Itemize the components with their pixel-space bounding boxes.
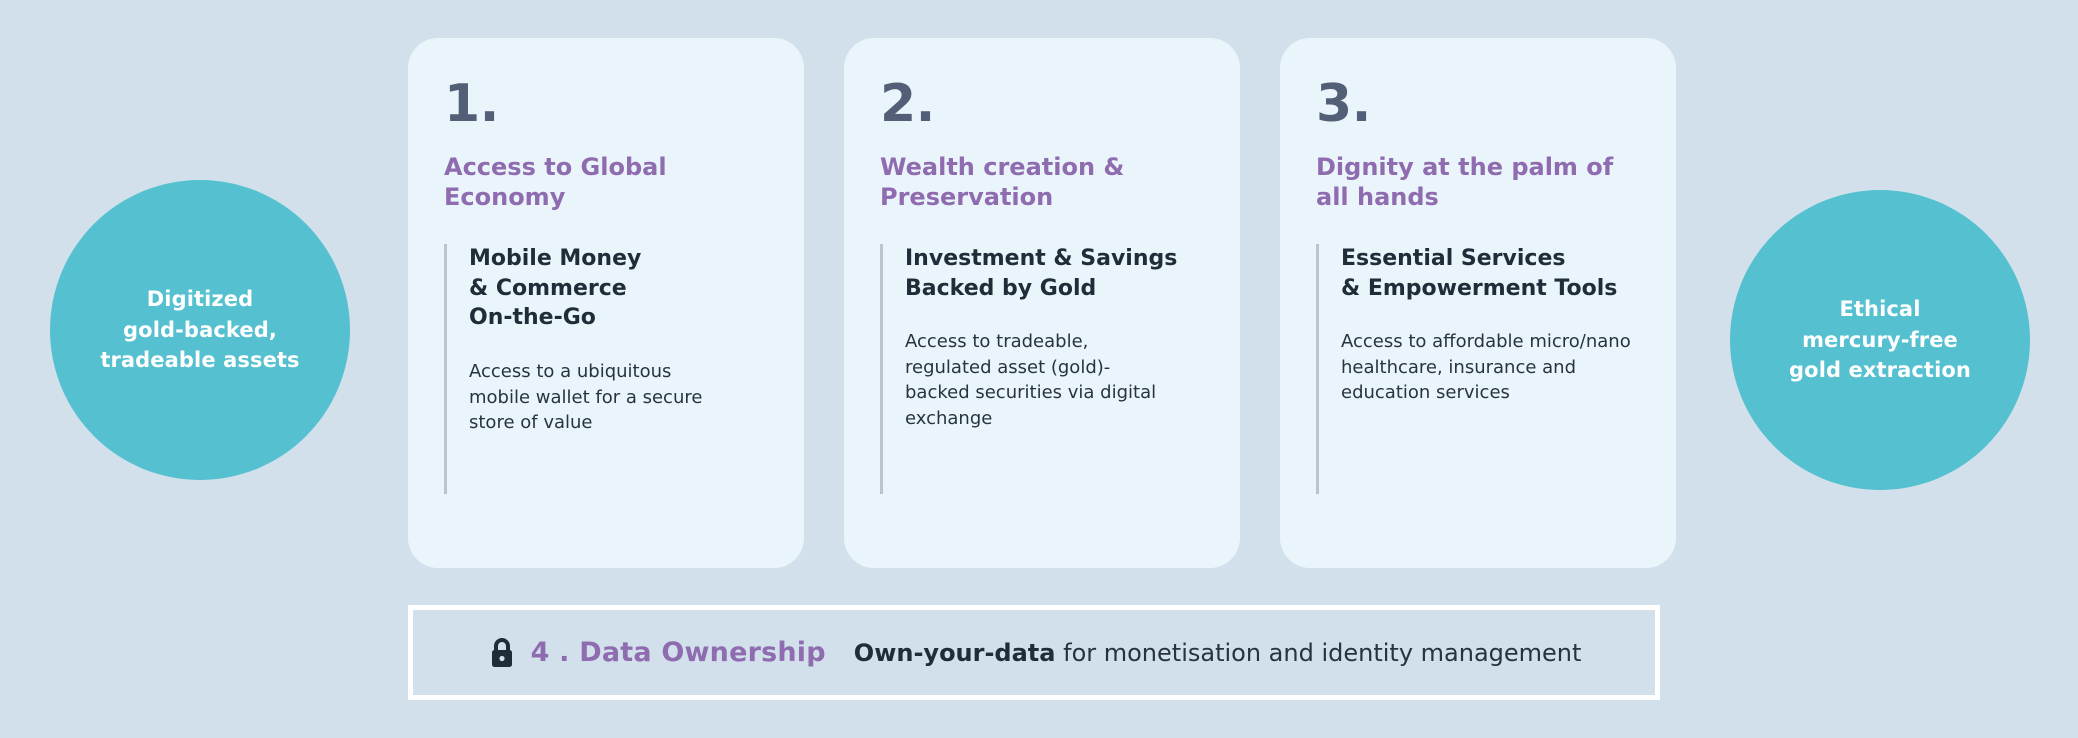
card-number: 3. <box>1316 78 1640 130</box>
card-body-description: Access to tradeable, regulated asset (go… <box>905 329 1204 431</box>
card-body: Investment & Savings Backed by Gold Acce… <box>880 244 1204 494</box>
data-ownership-description-rest: for monetisation and identity management <box>1055 639 1581 667</box>
data-ownership-step-label: 4 . Data Ownership <box>531 637 826 668</box>
card-body-description: Access to a ubiquitous mobile wallet for… <box>469 359 768 436</box>
card-number: 1. <box>444 78 768 130</box>
card-body: Essential Services & Empowerment Tools A… <box>1316 244 1640 494</box>
card-body-title: Mobile Money & Commerce On-the-Go <box>469 244 768 333</box>
card-body-description: Access to affordable micro/nano healthca… <box>1341 329 1640 406</box>
cards-row: 1. Access to Global Economy Mobile Money… <box>408 38 1676 568</box>
card-body: Mobile Money & Commerce On-the-Go Access… <box>444 244 768 494</box>
card-body-title: Essential Services & Empowerment Tools <box>1341 244 1640 303</box>
data-ownership-bar[interactable]: 4 . Data Ownership Own-your-data for mon… <box>408 605 1660 700</box>
card-heading: Dignity at the palm of all hands <box>1316 152 1640 212</box>
card-body-title: Investment & Savings Backed by Gold <box>905 244 1204 303</box>
card-wealth-creation-preservation[interactable]: 2. Wealth creation & Preservation Invest… <box>844 38 1240 568</box>
card-dignity-at-palm-of-all-hands[interactable]: 3. Dignity at the palm of all hands Esse… <box>1280 38 1676 568</box>
data-ownership-description: Own-your-data for monetisation and ident… <box>854 639 1582 667</box>
circle-left-label: Digitized gold-backed, tradeable assets <box>74 284 325 375</box>
card-heading: Access to Global Economy <box>444 152 768 212</box>
data-ownership-description-strong: Own-your-data <box>854 639 1056 667</box>
card-number: 2. <box>880 78 1204 130</box>
card-access-to-global-economy[interactable]: 1. Access to Global Economy Mobile Money… <box>408 38 804 568</box>
card-heading: Wealth creation & Preservation <box>880 152 1204 212</box>
lock-icon <box>487 636 517 670</box>
circle-digitized-assets: Digitized gold-backed, tradeable assets <box>50 180 350 480</box>
circle-right-label: Ethical mercury-free gold extraction <box>1763 294 1997 385</box>
circle-ethical-extraction: Ethical mercury-free gold extraction <box>1730 190 2030 490</box>
